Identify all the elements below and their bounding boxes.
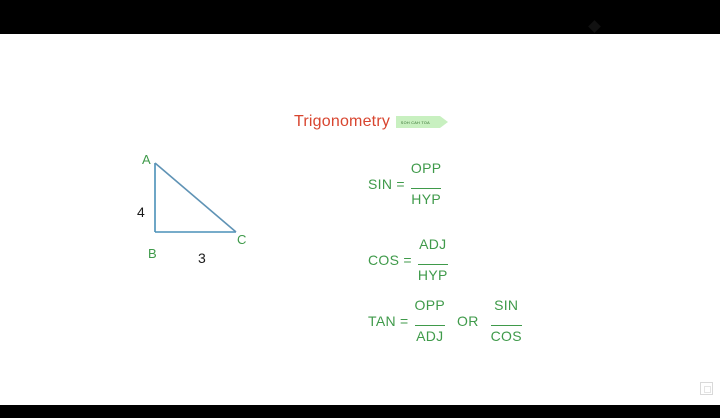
whiteboard-canvas: Trigonometry SOH CAH TOA A B C 4 3 SIN =… (0, 34, 720, 405)
formula-sin-lead: SIN = (368, 176, 405, 192)
formula-cos: COS =ADJHYP (368, 236, 448, 283)
formula-tan-numerator: OPP (415, 297, 445, 313)
formula-cos-fraction: ADJHYP (418, 236, 448, 283)
formula-tan-connector: OR (457, 313, 479, 329)
page-title: Trigonometry (294, 113, 390, 131)
formula-sin-fraction: OPPHYP (411, 160, 441, 207)
side-length-vertical: 4 (137, 204, 145, 220)
fullscreen-icon[interactable] (700, 382, 713, 395)
formula-cos-lead: COS = (368, 252, 412, 268)
formula-cos-numerator: ADJ (418, 236, 448, 252)
right-triangle-figure: A B C 4 3 (120, 144, 270, 294)
letterbox-bottom (0, 405, 720, 418)
formula-sin-denominator: HYP (411, 188, 441, 207)
formula-cos-denominator: HYP (418, 264, 448, 283)
vertex-label-b: B (148, 246, 157, 261)
formula-tan-fraction: OPPADJ (415, 297, 445, 344)
formula-tan-alt-numerator: SIN (491, 297, 522, 313)
letterbox-top (0, 0, 720, 34)
side-length-horizontal: 3 (198, 250, 206, 266)
vertex-label-c: C (237, 232, 246, 247)
formula-sin-numerator: OPP (411, 160, 441, 176)
video-frame: Trigonometry SOH CAH TOA A B C 4 3 SIN =… (0, 0, 720, 418)
title-row: Trigonometry SOH CAH TOA (294, 113, 440, 131)
mnemonic-badge: SOH CAH TOA (396, 116, 440, 128)
mnemonic-badge-label: SOH CAH TOA (401, 120, 430, 125)
watermark (470, 334, 720, 394)
triangle-side-hypotenuse (155, 163, 236, 232)
formula-tan-denominator: ADJ (415, 325, 445, 344)
formula-sin: SIN =OPPHYP (368, 160, 441, 207)
vertex-label-a: A (142, 152, 151, 167)
formula-tan-lead: TAN = (368, 313, 409, 329)
